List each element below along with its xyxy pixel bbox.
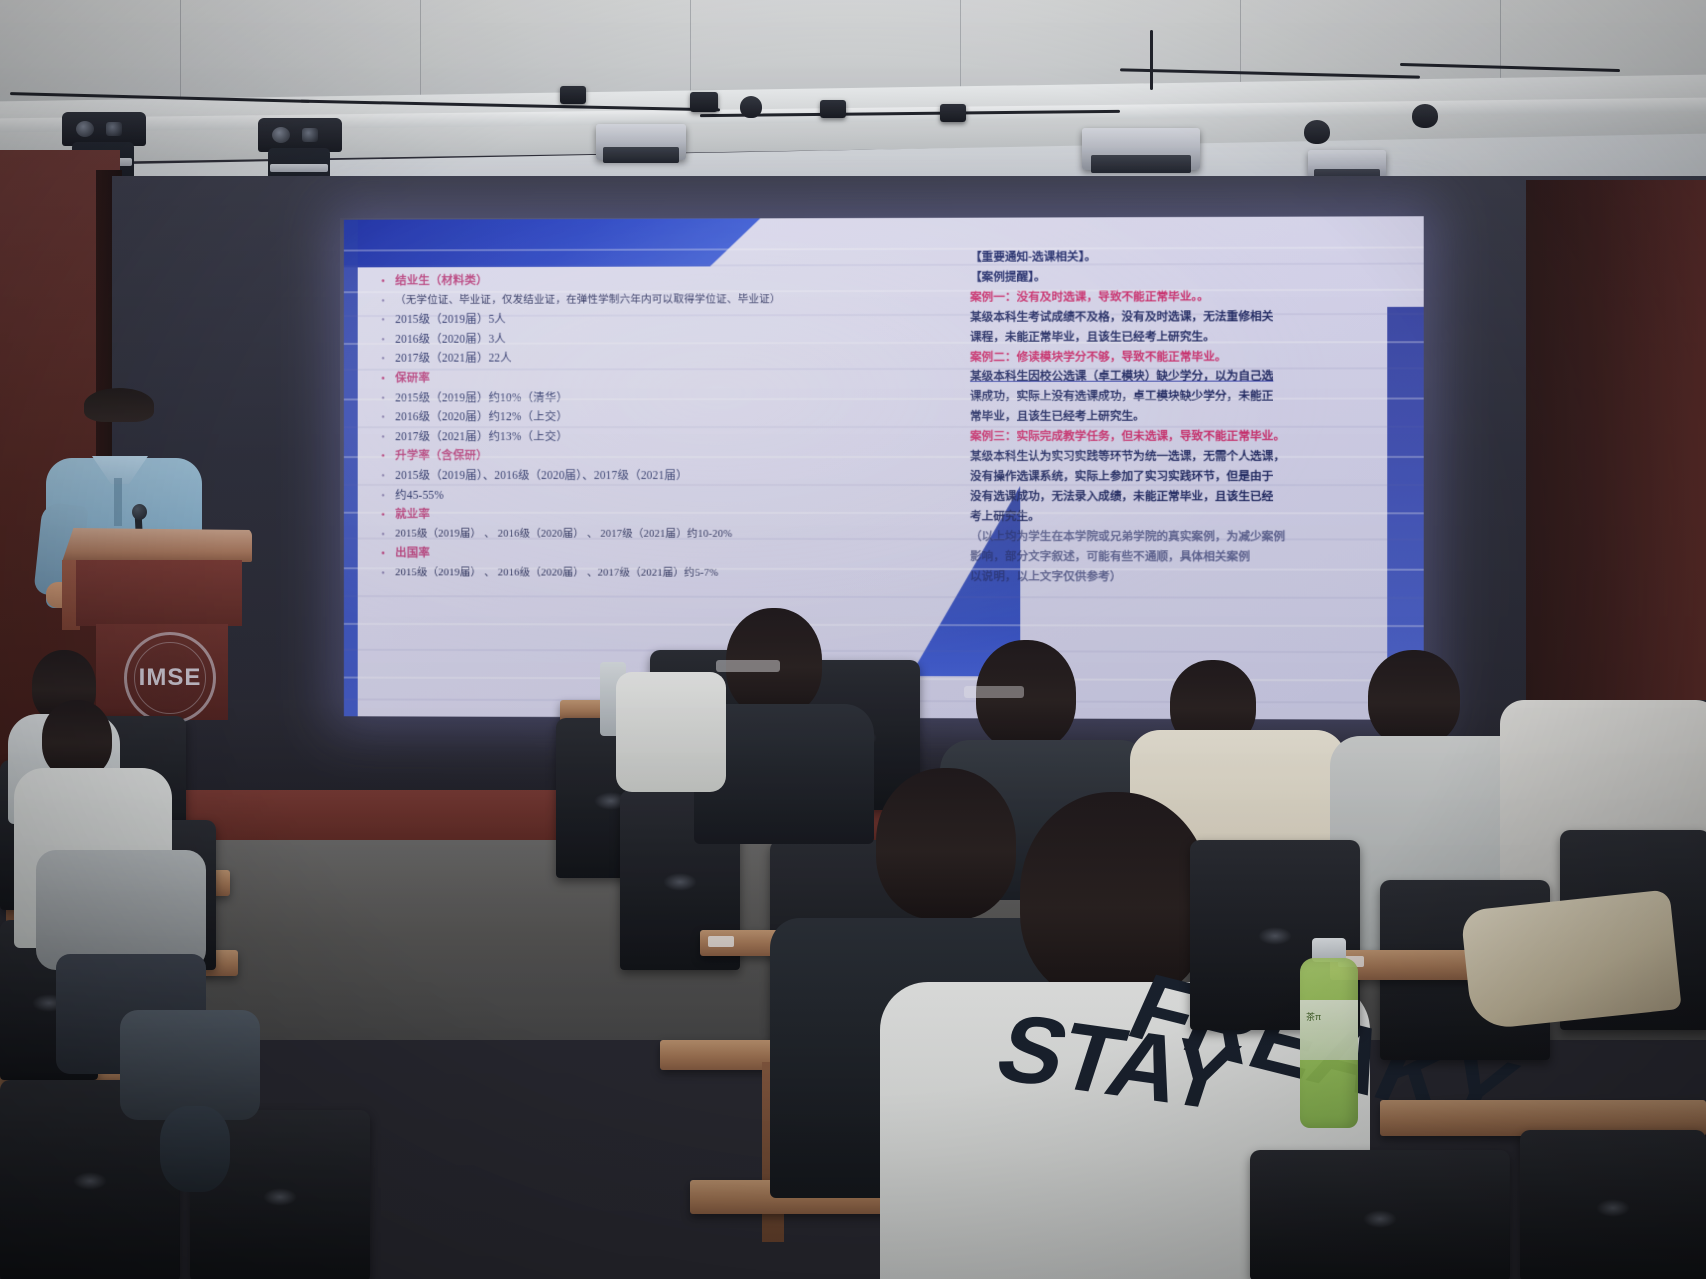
audience-member	[616, 672, 726, 802]
slide-line: 常毕业，且该生已经考上研究生。	[970, 411, 1403, 424]
slide-line-text: 2017级（2021届）22人	[395, 353, 512, 365]
seat[interactable]	[1250, 1150, 1510, 1279]
backpack	[1460, 889, 1681, 1030]
ceiling-camera	[740, 96, 762, 118]
slide-line: 案例一：没有及时选课，导致不能正常毕业。。	[970, 291, 1403, 305]
presenter-hair	[84, 388, 154, 422]
ceiling-speaker	[940, 104, 966, 122]
slide-line: •（无学位证、毕业证，仅发结业证，在弹性学制六年内可以取得学位证、毕业证）	[381, 293, 958, 307]
slide-line: •2016级（2020届）约12%（上交）	[381, 411, 958, 424]
lectern-top	[62, 528, 252, 562]
ceiling-speaker	[820, 100, 846, 118]
ceiling-camera	[1412, 104, 1438, 128]
ceiling-camera	[1304, 120, 1330, 144]
microphone-head-icon	[132, 504, 147, 520]
slide-line-text: 就业率	[395, 509, 430, 521]
bullet-icon: •	[381, 470, 395, 483]
slide-line: •约45-55%	[381, 489, 958, 502]
seat[interactable]	[1520, 1130, 1706, 1279]
slide-line: 案例二：修读模块学分不够，导致不能正常毕业。	[970, 351, 1403, 364]
presenter-placket	[114, 478, 122, 526]
bullet-icon: •	[381, 489, 395, 502]
slide-line: •结业生（材料类）	[381, 274, 958, 288]
bullet-icon: •	[381, 431, 395, 444]
slide-line-text: （无学位证、毕业证，仅发结业证，在弹性学制六年内可以取得学位证、毕业证）	[395, 294, 781, 306]
slide-line-text: 2016级（2020届）约12%（上交）	[395, 411, 568, 423]
bullet-icon: •	[381, 548, 395, 561]
bullet-icon: •	[381, 295, 395, 308]
bullet-icon: •	[381, 412, 395, 425]
ceiling-projector	[1082, 128, 1200, 170]
desk-tag	[708, 936, 734, 947]
slide-line-text: 出国率	[395, 548, 430, 560]
slide-line-text: 2017级（2021届）约13%（上交）	[395, 431, 568, 443]
slide-line-text: 结业生（材料类）	[395, 275, 488, 287]
eyeglasses-icon	[716, 660, 780, 672]
slide-line: 没有选课成功，无法录入成绩，未能正常毕业，且该生已经	[970, 491, 1403, 504]
slide-line-text: 保研率	[395, 373, 430, 385]
bullet-icon: •	[381, 275, 395, 288]
bottle-label-text: 茶π	[1306, 1010, 1321, 1023]
slide-line: •保研率	[381, 372, 958, 386]
lectern-face	[76, 560, 242, 626]
ceiling-speaker	[690, 92, 718, 112]
eyeglasses-icon	[964, 686, 1024, 698]
slide-line: •2017级（2021届）22人	[381, 352, 958, 366]
slide-left-edge-graphic	[344, 220, 358, 717]
slide-line-text: 约45-55%	[395, 489, 444, 501]
slide-banner-graphic	[344, 218, 760, 267]
slide-line: •出国率	[381, 548, 958, 562]
projection-screen: •结业生（材料类） •（无学位证、毕业证，仅发结业证，在弹性学制六年内可以取得学…	[344, 216, 1424, 720]
slide-line: 没有操作选课系统，实际上参加了实习实践环节，但是由于	[970, 471, 1403, 484]
slide-left-column: •结业生（材料类） •（无学位证、毕业证，仅发结业证，在弹性学制六年内可以取得学…	[381, 274, 958, 588]
slide-line: 影响，部分文字叙述，可能有些不通顺，具体相关案例	[970, 551, 1403, 564]
bullet-icon: •	[381, 353, 395, 366]
slide-line: 以说明，以上文字仅供参考）	[970, 571, 1403, 584]
slide-line: 案例三：实际完成教学任务，但未选课，导致不能正常毕业。	[970, 431, 1403, 444]
slide-line: 某级本科生因校公选课（卓工模块）缺少学分，以为自己选	[970, 371, 1403, 384]
slide-line: •2017级（2021届）约13%（上交）	[381, 431, 958, 444]
lecture-hall-photo: •结业生（材料类） •（无学位证、毕业证，仅发结业证，在弹性学制六年内可以取得学…	[0, 0, 1706, 1279]
ceiling-projector	[596, 124, 686, 160]
slide-line-text: 2015级（2019届）、2016级（2020届）、2017级（2021届）	[395, 470, 687, 482]
slide-line: 【案例提醒】。	[970, 271, 1403, 285]
ceiling-speaker	[560, 86, 586, 104]
bottle-label: 茶π	[1300, 1000, 1358, 1060]
bullet-icon: •	[381, 373, 395, 386]
slide-line: •2015级（2019届）、2016级（2020届）、2017级（2021届）	[381, 470, 958, 483]
audience-member	[120, 1010, 260, 1190]
